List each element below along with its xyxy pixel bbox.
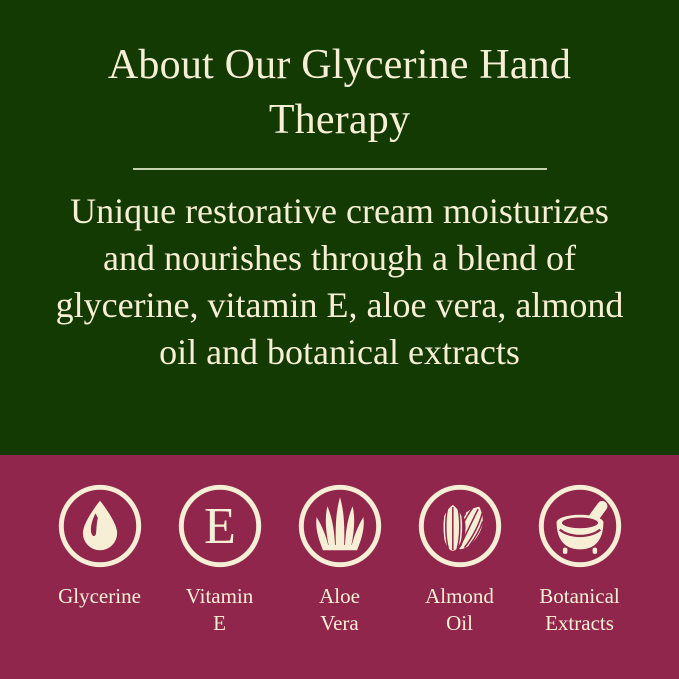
benefit-label: Almond Oil (398, 583, 522, 638)
almonds-icon (415, 481, 505, 571)
about-description: Unique restorative cream moisturizes and… (51, 188, 629, 375)
droplet-icon (55, 481, 145, 571)
product-info-card: About Our Glycerine Hand Therapy Unique … (0, 0, 679, 679)
benefit-label: Botanical Extracts (518, 583, 642, 638)
benefit-glycerine: Glycerine (40, 481, 160, 610)
benefit-vitamin-e: E Vitamin E (160, 481, 280, 638)
letter-e-icon: E (175, 481, 265, 571)
benefit-label: Vitamin E (158, 583, 282, 638)
benefit-label: Aloe Vera (278, 583, 402, 638)
title-divider (133, 168, 547, 170)
page-title: About Our Glycerine Hand Therapy (60, 38, 620, 147)
about-section: About Our Glycerine Hand Therapy Unique … (0, 0, 679, 455)
aloe-plant-icon (295, 481, 385, 571)
benefit-aloe-vera: Aloe Vera (280, 481, 400, 638)
benefit-label: Glycerine (38, 583, 162, 610)
benefit-almond-oil: Almond Oil (400, 481, 520, 638)
benefit-botanical-extracts: Botanical Extracts (520, 481, 640, 638)
svg-text:E: E (204, 497, 236, 555)
mortar-pestle-icon (535, 481, 625, 571)
ingredients-strip: Glycerine E Vitamin E (0, 455, 679, 679)
